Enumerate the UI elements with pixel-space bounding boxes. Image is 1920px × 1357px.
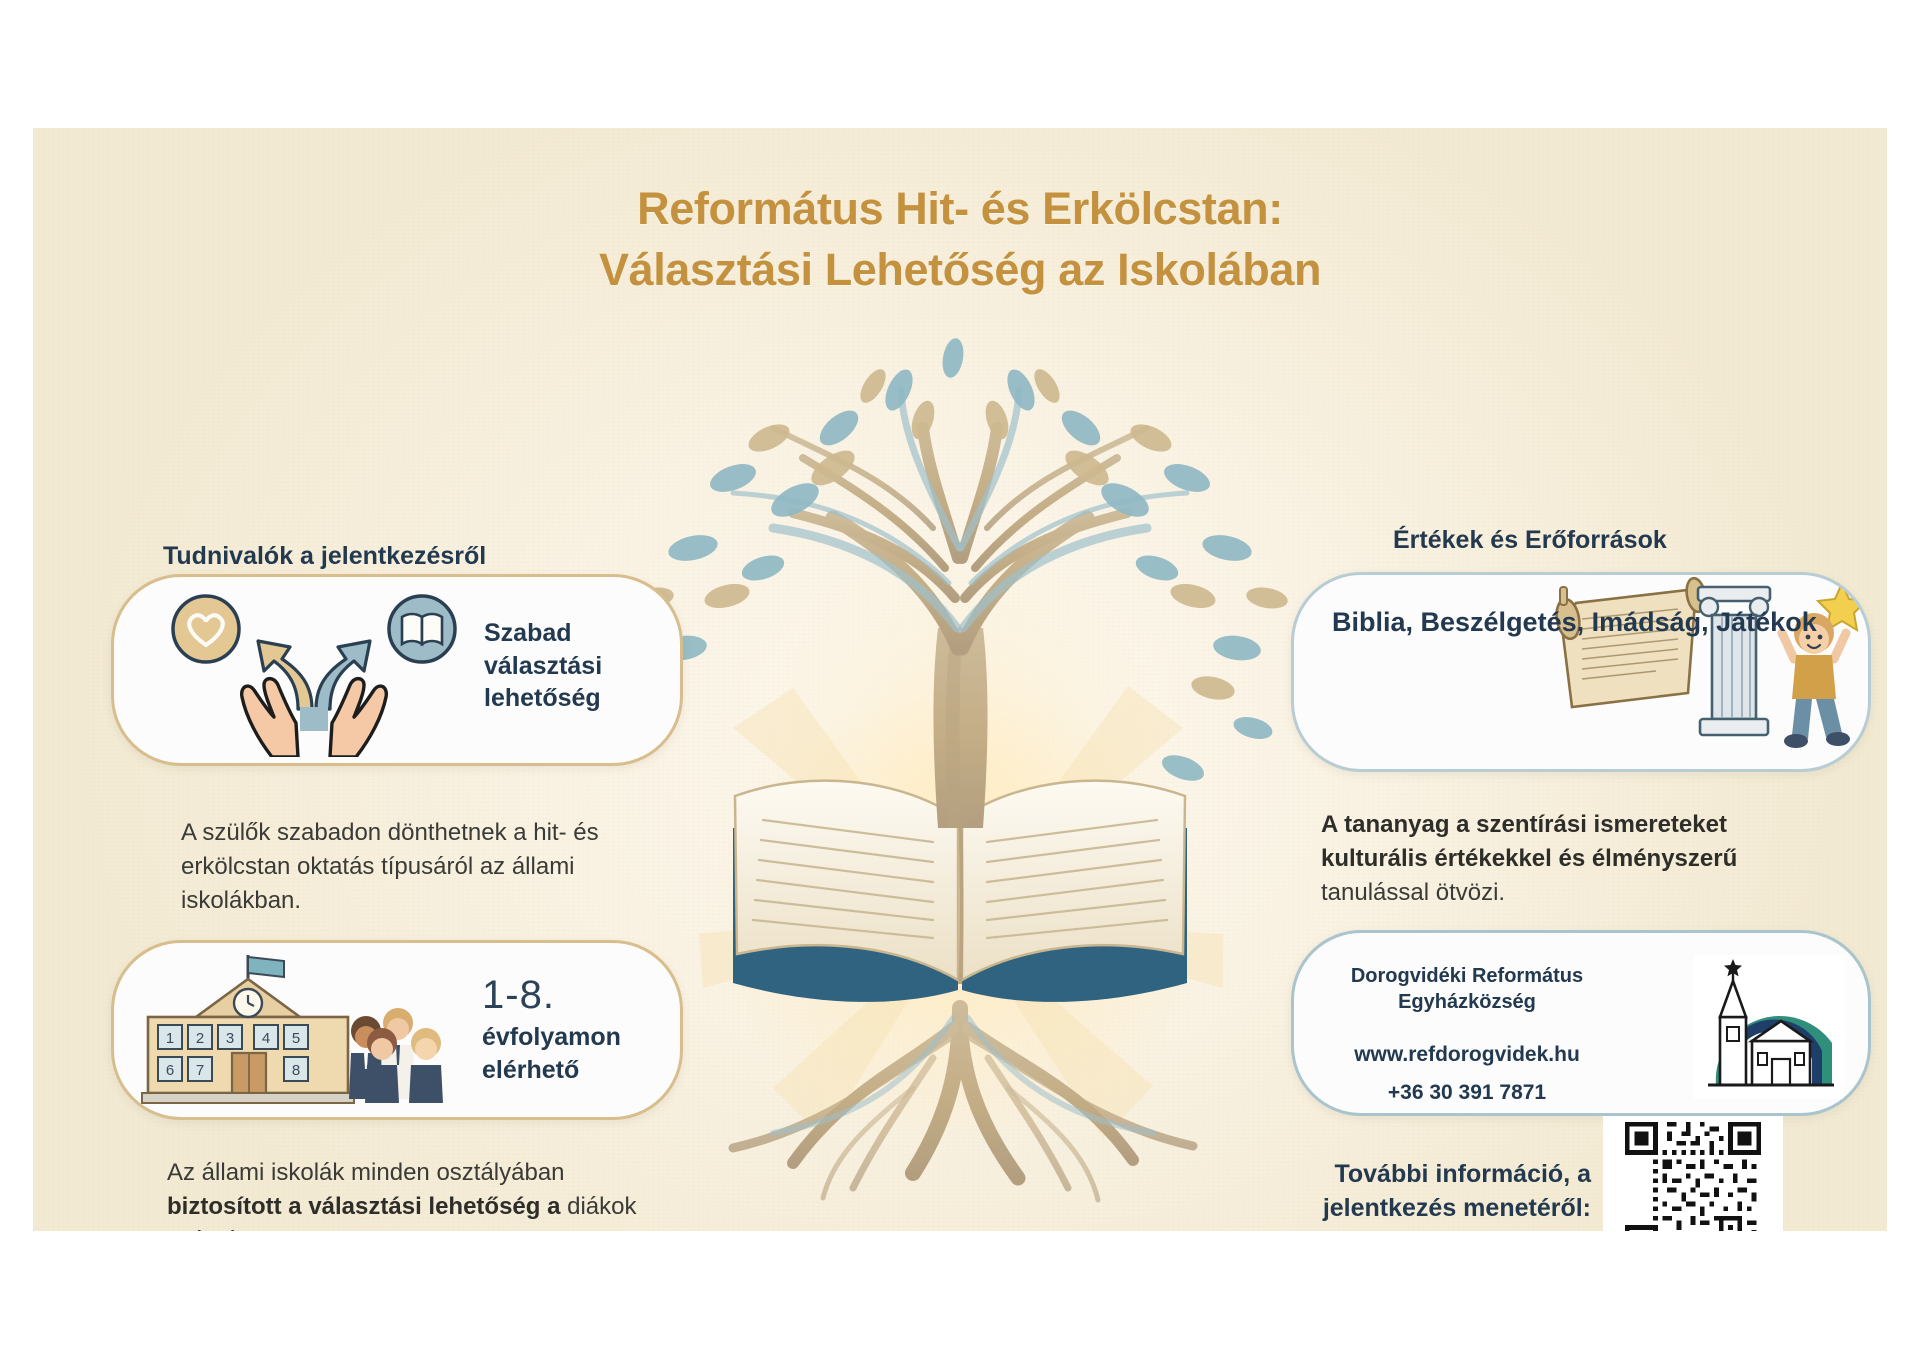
card-grade-text: évfolyamon elérhető <box>482 1021 680 1086</box>
contact-name-line-2: Egyházközség <box>1322 989 1612 1015</box>
clock-icon <box>234 989 262 1017</box>
svg-text:5: 5 <box>292 1030 300 1047</box>
qr-caption-line-1: További információ, a <box>1241 1158 1591 1192</box>
left-paragraph-1: A szülők szabadon dönthetnek a hit- és e… <box>181 816 651 918</box>
left-paragraph-2-start: Az állami iskolák minden osztályában <box>167 1159 565 1186</box>
title-line-1: Református Hit- és Erkölcstan: <box>33 178 1887 239</box>
card-values-text: Biblia, Beszélgetés, Imádság, Játékok <box>1332 605 1817 640</box>
students-group-icon <box>349 1008 443 1103</box>
left-paragraph-2-bold: biztosított a választási lehetőség a <box>167 1193 560 1220</box>
page-title: Református Hit- és Erkölcstan: Választás… <box>33 178 1887 300</box>
contact-name-line-1: Dorogvidéki Református <box>1322 963 1612 989</box>
qr-code-matrix <box>1609 1122 1777 1231</box>
left-section-heading: Tudnivalók a jelentkezésről <box>163 542 486 571</box>
card-free-choice: Szabad választási lehetőség <box>111 574 683 766</box>
scroll-icon <box>1546 572 1871 771</box>
title-line-2: Választási Lehetőség az Iskolában <box>33 239 1887 300</box>
svg-text:3: 3 <box>226 1030 234 1047</box>
right-paragraph-1: A tananyag a szentírási ismereteket kult… <box>1321 808 1791 910</box>
svg-text:2: 2 <box>196 1030 204 1047</box>
contact-phone[interactable]: +36 30 391 7871 <box>1322 1079 1612 1106</box>
qr-caption: További információ, a jelentkezés meneté… <box>1241 1158 1591 1225</box>
card-free-choice-text: Szabad választási lehetőség <box>484 617 680 715</box>
card-grade-number: 1-8. <box>482 969 555 1021</box>
open-hands-icon <box>150 589 480 757</box>
svg-text:6: 6 <box>166 1062 174 1079</box>
right-paragraph-1-plain: tanulással ötvözi. <box>1321 879 1505 906</box>
right-section-heading: Értékek és Erőforrások <box>1393 526 1667 555</box>
right-paragraph-1-bold: A tananyag a szentírási ismereteket kult… <box>1321 811 1737 872</box>
contact-organization-name: Dorogvidéki Református Egyházközség <box>1322 963 1612 1015</box>
school-building-icon: 1 2 3 4 5 6 7 8 <box>132 949 472 1120</box>
open-book-circle-icon <box>389 596 455 662</box>
heart-circle-icon <box>173 596 239 662</box>
church-logo-icon <box>1694 955 1844 1099</box>
scroll-icon <box>1554 577 1708 707</box>
card-contact[interactable]: Dorogvidéki Református Egyházközség www.… <box>1291 930 1871 1116</box>
infographic-poster: Református Hit- és Erkölcstan: Választás… <box>33 128 1887 1231</box>
left-paragraph-2: Az állami iskolák minden osztályában biz… <box>167 1156 667 1231</box>
svg-text:7: 7 <box>196 1062 204 1079</box>
svg-text:8: 8 <box>292 1062 300 1079</box>
contact-website[interactable]: www.refdorogvidek.hu <box>1322 1041 1612 1068</box>
card-grade-range: 1 2 3 4 5 6 7 8 <box>111 940 683 1120</box>
card-values-resources: Biblia, Beszélgetés, Imádság, Játékok <box>1291 572 1871 772</box>
qr-code-icon[interactable] <box>1603 1116 1783 1231</box>
svg-text:4: 4 <box>262 1030 270 1047</box>
svg-text:1: 1 <box>166 1030 174 1047</box>
qr-caption-line-2: jelentkezés menetéről: <box>1241 1192 1591 1226</box>
